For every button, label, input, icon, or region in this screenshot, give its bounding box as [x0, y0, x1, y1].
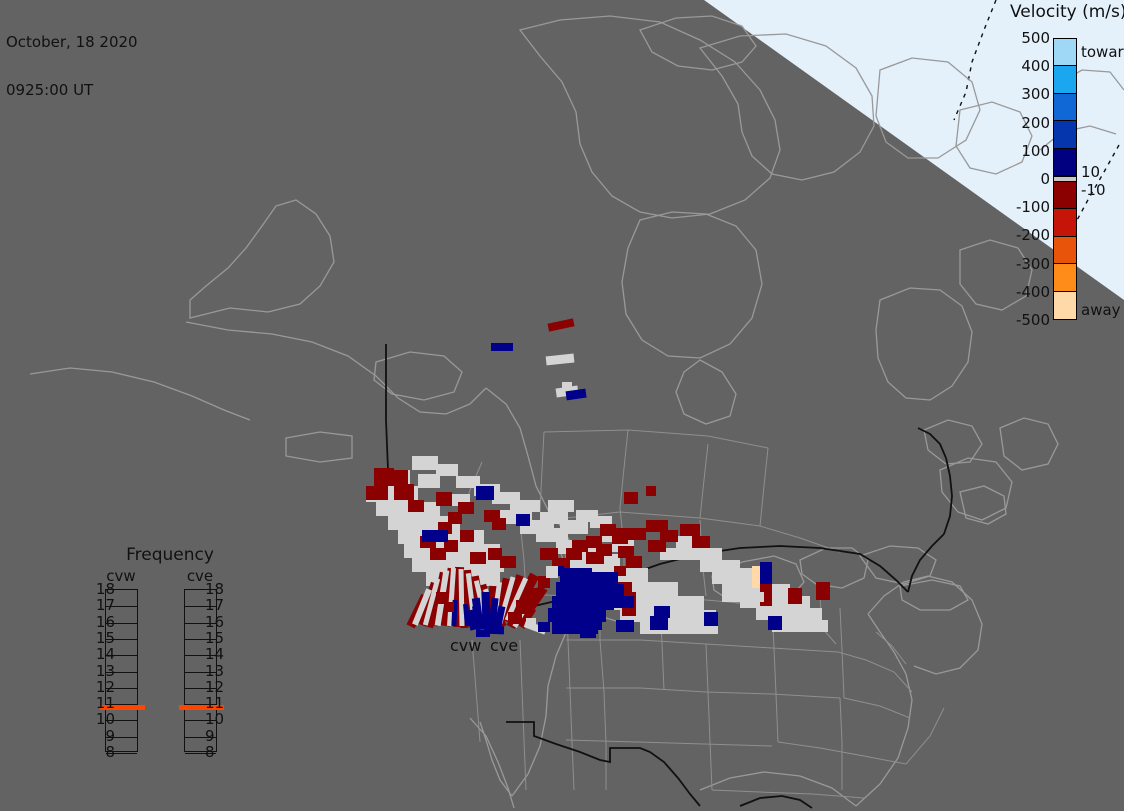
colorbar-segment	[1054, 39, 1076, 66]
colorbar-tick-label: -400	[1016, 283, 1050, 301]
frequency-tick-label: 8	[205, 743, 235, 761]
timestamp-date: October, 18 2020	[6, 34, 138, 50]
frequency-tick-label: 9	[85, 727, 115, 745]
colorbar-segment	[1054, 209, 1076, 236]
colorbar-title: Velocity (m/s)	[1010, 2, 1124, 22]
frequency-tick-label: 10	[205, 710, 235, 728]
frequency-tick-label: 13	[205, 662, 235, 680]
colorbar-tick-label: -300	[1016, 255, 1050, 273]
frequency-tick-label: 17	[205, 596, 235, 614]
frequency-tick-label: 16	[85, 613, 115, 631]
colorbar-segment	[1054, 182, 1076, 209]
frequency-tick-label: 11	[205, 694, 235, 712]
velocity-data-cells	[366, 318, 830, 638]
timestamp: October, 18 2020 0925:00 UT	[6, 2, 138, 130]
colorbar-segment	[1054, 66, 1076, 93]
colorbar-tick-label: 400	[1021, 57, 1050, 75]
frequency-tick-label: 14	[85, 645, 115, 663]
frequency-tick-label: 12	[85, 678, 115, 696]
superdarn-velocity-map: October, 18 2020 0925:00 UT Velocity (m/…	[0, 0, 1124, 811]
colorbar-tick-label: 200	[1021, 114, 1050, 132]
frequency-tick-label: 18	[205, 580, 235, 598]
frequency-tick-label: 15	[205, 629, 235, 647]
velocity-colorbar: Velocity (m/s) 5004003002001000-100-200-…	[1000, 0, 1124, 330]
colorbar-tick-label: 0	[1040, 170, 1050, 188]
colorbar-tick-label: 300	[1021, 85, 1050, 103]
colorbar-tick-label: -200	[1016, 226, 1050, 244]
frequency-legend-title: Frequency	[85, 545, 255, 565]
colorbar-away-label: away	[1081, 301, 1121, 319]
radar-site-label-cvw: cvw	[450, 636, 481, 655]
frequency-tick-label: 10	[85, 710, 115, 728]
frequency-tick-label: 9	[205, 727, 235, 745]
colorbar-segment	[1054, 94, 1076, 121]
colorbar-segment	[1054, 237, 1076, 264]
colorbar-plus10-label: 10	[1081, 163, 1100, 181]
colorbar-tick-label: -500	[1016, 311, 1050, 329]
colorbar-tick-label: -100	[1016, 198, 1050, 216]
frequency-tick-label: 13	[85, 662, 115, 680]
timestamp-time: 0925:00 UT	[6, 82, 138, 98]
colorbar-segment	[1054, 292, 1076, 319]
colorbar-tick-label: 500	[1021, 29, 1050, 47]
frequency-tick-label: 15	[85, 629, 115, 647]
colorbar-segment	[1054, 264, 1076, 291]
frequency-tick-label: 16	[205, 613, 235, 631]
frequency-tick-label: 12	[205, 678, 235, 696]
colorbar-tick-label: 100	[1021, 142, 1050, 160]
radar-site-label-cve: cve	[490, 636, 518, 655]
frequency-legend: Frequency cvw cve 1818171716161515141413…	[85, 545, 255, 790]
frequency-tick-label: 11	[85, 694, 115, 712]
colorbar-segment	[1054, 121, 1076, 148]
colorbar-gradient	[1053, 38, 1077, 320]
frequency-tick-label: 8	[85, 743, 115, 761]
frequency-tick-label: 14	[205, 645, 235, 663]
frequency-tick-label: 18	[85, 580, 115, 598]
colorbar-toward-label: toward	[1081, 43, 1124, 61]
colorbar-segment	[1054, 149, 1076, 176]
colorbar-minus10-label: -10	[1081, 181, 1106, 199]
frequency-tick-label: 17	[85, 596, 115, 614]
